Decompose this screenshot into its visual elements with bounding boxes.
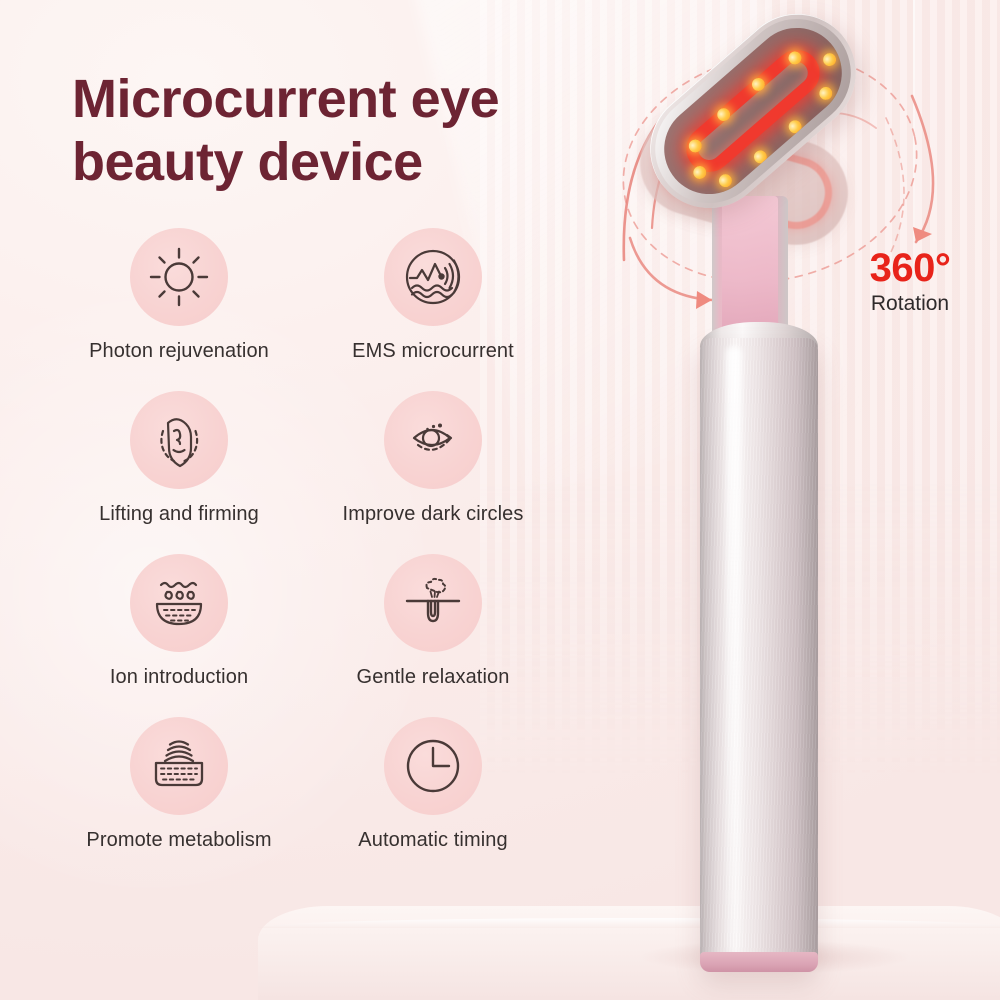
eye-icon [402, 409, 464, 471]
led-dot [751, 148, 769, 166]
feature-icon-disc [130, 228, 228, 326]
feature-row: Lifting and firming [52, 391, 572, 526]
device-handle-texture [700, 338, 818, 970]
face-profile-icon [148, 409, 210, 471]
sun-icon [148, 246, 210, 308]
product-device: 360° Rotation [600, 0, 1000, 1000]
feature-label: Automatic timing [358, 829, 507, 852]
feature-row: Photon rejuvenation [52, 228, 572, 363]
feature-row: Promote metabolism Automatic timing [52, 717, 572, 852]
feature-label: EMS microcurrent [352, 340, 514, 363]
feature-row: Ion introduction [52, 554, 572, 689]
feature-icon-disc [130, 717, 228, 815]
skin-layer-waves-icon [148, 735, 210, 797]
feature-label: Gentle relaxation [357, 666, 510, 689]
feature-item-photon-rejuvenation[interactable]: Photon rejuvenation [52, 228, 306, 363]
pore-follicle-icon [402, 572, 464, 634]
feature-item-improve-dark-circles[interactable]: Improve dark circles [306, 391, 560, 526]
led-dot [820, 50, 838, 68]
water-droplet-bowl-icon [148, 572, 210, 634]
rotation-badge: 360° Rotation [840, 248, 980, 316]
feature-item-lifting-and-firming[interactable]: Lifting and firming [52, 391, 306, 526]
rotation-caption: Rotation [840, 292, 980, 316]
feature-item-ems-microcurrent[interactable]: EMS microcurrent [306, 228, 560, 363]
device-neck-inner-panel [722, 196, 778, 336]
feature-label: Ion introduction [110, 666, 248, 689]
feature-icon-disc [384, 391, 482, 489]
led-dot [786, 118, 804, 136]
feature-list: Photon rejuvenation [52, 228, 572, 880]
device-handle-highlight [726, 346, 742, 953]
feature-label: Photon rejuvenation [89, 340, 269, 363]
feature-icon-disc [130, 391, 228, 489]
page-title: Microcurrent eye beauty device [72, 68, 632, 193]
feature-label: Improve dark circles [343, 503, 524, 526]
feature-item-promote-metabolism[interactable]: Promote metabolism [52, 717, 306, 852]
led-dot [817, 84, 835, 102]
feature-icon-disc [384, 228, 482, 326]
clock-icon [402, 735, 464, 797]
feature-item-automatic-timing[interactable]: Automatic timing [306, 717, 560, 852]
product-marketing-banner: Microcurrent eye beauty device [0, 0, 1000, 1000]
ems-wave-icon [402, 246, 464, 308]
feature-label: Promote metabolism [86, 829, 271, 852]
led-dot [716, 171, 734, 189]
feature-item-gentle-relaxation[interactable]: Gentle relaxation [306, 554, 560, 689]
feature-icon-disc [130, 554, 228, 652]
device-handle-base [700, 952, 818, 972]
feature-label: Lifting and firming [99, 503, 259, 526]
device-handle [700, 338, 818, 970]
feature-icon-disc [384, 717, 482, 815]
feature-icon-disc [384, 554, 482, 652]
rotation-degrees: 360° [840, 248, 980, 288]
feature-item-ion-introduction[interactable]: Ion introduction [52, 554, 306, 689]
